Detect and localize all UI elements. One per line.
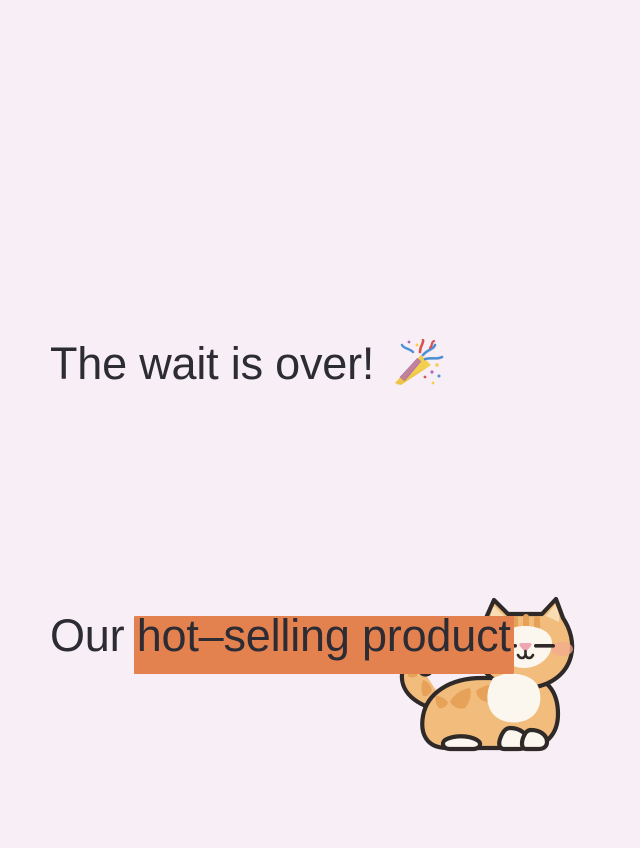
headline-line-1: The wait is over! (50, 330, 610, 398)
party-popper-icon (387, 338, 445, 386)
line-2-prefix: Our (50, 610, 137, 661)
highlight-hot-selling-product: hot–selling product (137, 602, 511, 670)
line-1-text: The wait is over! (50, 338, 374, 389)
poster-canvas: The wait is over! (0, 0, 640, 848)
